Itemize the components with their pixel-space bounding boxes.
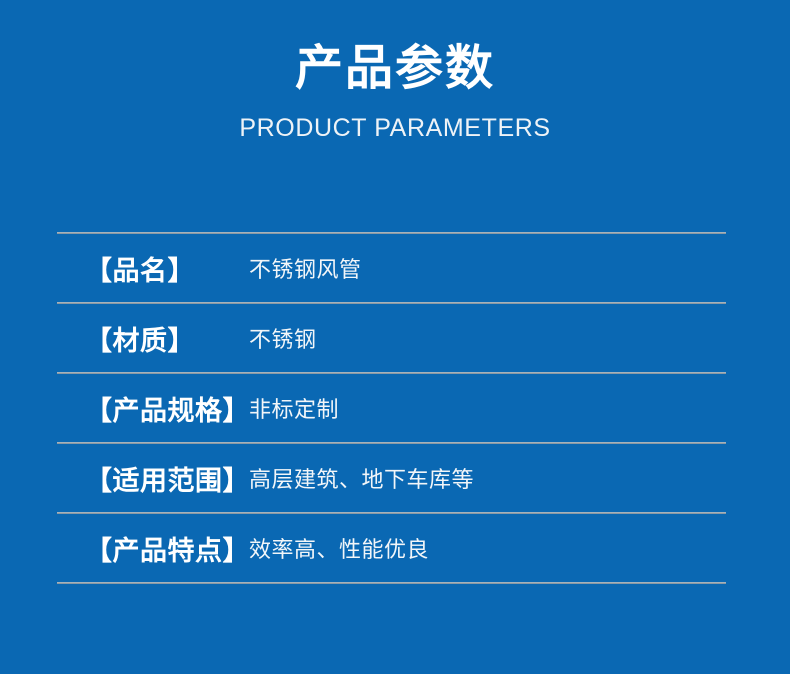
spec-table: 【品名】 不锈钢风管 【材质】 不锈钢 【产品规格】 非标定制 【适用范围】 高… bbox=[57, 232, 726, 584]
spec-value: 不锈钢风管 bbox=[249, 252, 726, 284]
table-row: 【产品特点】 效率高、性能优良 bbox=[57, 514, 726, 582]
page-header: 产品参数 PRODUCT PARAMETERS bbox=[0, 40, 790, 144]
table-row: 【材质】 不锈钢 bbox=[57, 304, 726, 372]
table-row: 【产品规格】 非标定制 bbox=[57, 374, 726, 442]
spec-label: 【产品特点】 bbox=[57, 529, 249, 568]
spec-label: 【适用范围】 bbox=[57, 459, 249, 498]
page-title: 产品参数 bbox=[0, 40, 790, 98]
table-divider-bottom bbox=[57, 582, 726, 584]
table-row: 【品名】 不锈钢风管 bbox=[57, 234, 726, 302]
spec-value: 不锈钢 bbox=[249, 322, 726, 354]
spec-label: 【产品规格】 bbox=[57, 389, 249, 428]
spec-label: 【材质】 bbox=[57, 319, 249, 358]
spec-value: 高层建筑、地下车库等 bbox=[249, 462, 726, 494]
spec-value: 非标定制 bbox=[249, 392, 726, 424]
spec-label: 【品名】 bbox=[57, 249, 249, 288]
table-row: 【适用范围】 高层建筑、地下车库等 bbox=[57, 444, 726, 512]
spec-value: 效率高、性能优良 bbox=[249, 532, 726, 564]
product-parameters-page: 产品参数 PRODUCT PARAMETERS 【品名】 不锈钢风管 【材质】 … bbox=[0, 0, 790, 674]
page-subtitle: PRODUCT PARAMETERS bbox=[0, 112, 790, 144]
